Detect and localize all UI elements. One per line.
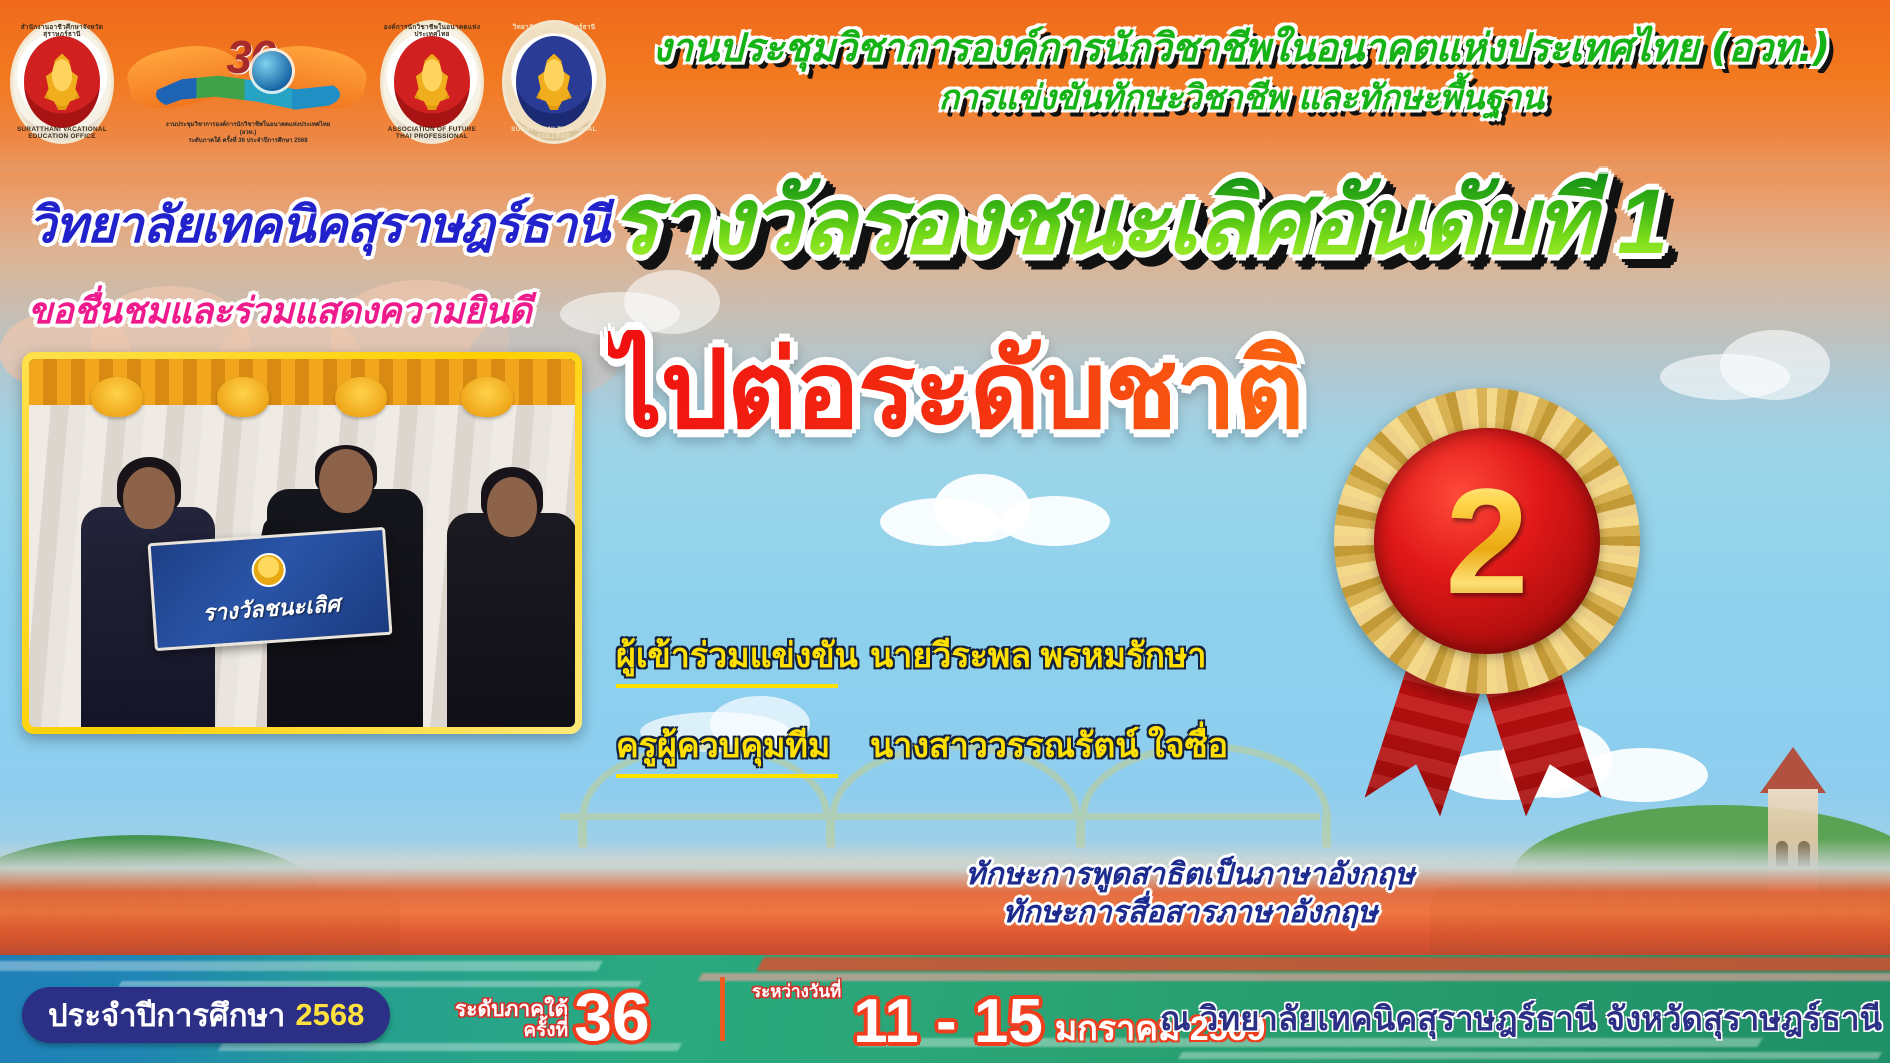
school-name-heading: วิทยาลัยเทคนิคสุราษฎร์ธานี [28,186,628,265]
association-future-thai-professional-seal-icon: องค์การนักวิชาชีพในอนาคตแห่งประเทศไทย AS… [380,20,484,144]
next-level-text: ไปต่อระดับชาติ [608,330,1878,450]
event-logo-caption-1: งานประชุมวิชาการองค์การนักวิชาชีพในอนาคต… [164,121,332,137]
event-edition-number: 36 [190,29,310,85]
skills-list: ทักษะการพูดสาธิตเป็นภาษาอังกฤษ ทักษะการส… [840,856,1540,932]
event-header: งานประชุมวิชาการองค์การนักวิชาชีพในอนาคต… [600,26,1882,120]
award-photo-frame: รางวัลชนะเลิศ [22,352,582,734]
participant-row: ผู้เข้าร่วมแข่งขัน นายวีระพล พรหมรักษา [616,628,1516,688]
congratulations-line: ขอชื่นชมและร่วมแสดงความยินดี [28,282,628,339]
participant-name: นายวีระพล พรหมรักษา [870,628,1206,682]
congratulations-poster: สำนักงานอาชีวศึกษาจังหวัดสุราษฎร์ธานี SU… [0,0,1890,1063]
skill-item: ทักษะการสื่อสารภาษาอังกฤษ [840,894,1540,932]
participant-row: ครูผู้ควบคุมทีม นางสาววรรณรัตน์ ใจซื่อ [616,718,1516,778]
advisor-name: นางสาววรรณรัตน์ ใจซื่อ [870,718,1228,772]
participant-info: ผู้เข้าร่วมแข่งขัน นายวีระพล พรหมรักษา ค… [616,628,1516,808]
edition-number: 36 [574,985,650,1049]
skill-item: ทักษะการพูดสาธิตเป็นภาษาอังกฤษ [840,856,1540,894]
suratthani-vocational-education-office-seal-icon: สำนักงานอาชีวศึกษาจังหวัดสุราษฎร์ธานี SU… [10,20,114,144]
plaque-text: รางวัลชนะเลิศ [202,586,342,631]
academic-year-label: ประจำปีการศึกษา [48,990,285,1040]
award-title: รางวัลรองชนะเลิศอันดับที่ 1 [610,172,1880,272]
academic-year-pill: ประจำปีการศึกษา 2568 [22,987,390,1043]
edition-label: ครั้งที่ [455,1021,568,1041]
region-edition-block: ระดับภาคใต้ ครั้งที่ 36 [455,985,650,1049]
date-range: 11 - 15 [853,993,1043,1051]
event-36th-logo-icon: 36 งานประชุมวิชาการองค์การนักวิชาชีพในอน… [132,19,362,145]
plaque-seal-icon [250,551,286,587]
award-plaque: รางวัลชนะเลิศ [148,527,393,651]
event-logo-caption-2: ระดับภาคใต้ ครั้งที่ 36 ประจำปีการศึกษา … [164,137,332,145]
rosette-rank-number: 2 [1445,466,1528,616]
award-photo: รางวัลชนะเลิศ [29,359,575,727]
seal-bottom-text: ASSOCIATION OF FUTURE THAI PROFESSIONAL [380,20,484,144]
person-teacher [441,435,575,727]
suratthani-technical-college-seal-icon: วิทยาลัยเทคนิคสุราษฎร์ธานี SURATTHANI TE… [502,20,606,144]
event-header-line-2: การแข่งขันทักษะวิชาชีพ และทักษะพื้นฐาน [600,76,1882,120]
advisor-label: ครูผู้ควบคุมทีม [616,718,838,778]
seal-bottom-text: SURATTHANI TECHNICAL COLLEGE [502,20,606,144]
region-label: ระดับภาคใต้ [455,999,568,1021]
academic-year-value: 2568 [295,997,364,1033]
footer-divider [720,977,725,1041]
logo-row: สำนักงานอาชีวศึกษาจังหวัดสุราษฎร์ธานี SU… [10,18,606,146]
venue-text: ณ วิทยาลัยเทคนิคสุราษฎร์ธานี จังหวัดสุรา… [1160,992,1882,1045]
event-header-line-1: งานประชุมวิชาการองค์การนักวิชาชีพในอนาคต… [600,26,1882,72]
rosette-disc: 2 [1374,428,1600,654]
date-prefix-label: ระหว่างวันที่ [752,978,841,1051]
seal-bottom-text: SURATTHANI VACATIONAL EDUCATION OFFICE [10,20,114,144]
participant-label: ผู้เข้าร่วมแข่งขัน [616,628,838,688]
